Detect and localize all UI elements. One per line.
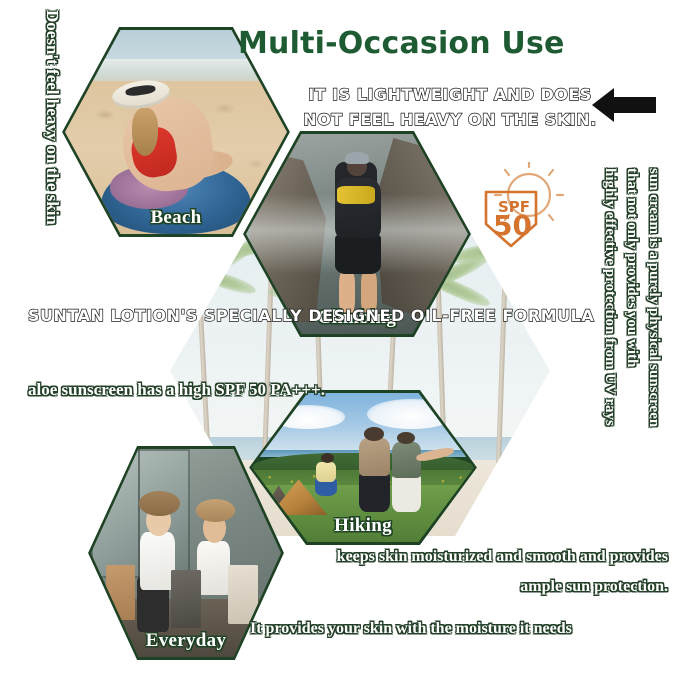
left-vertical-claim: Doesn't feel heavy on the skin <box>42 10 62 270</box>
moisturize-claim: keeps skin moisturized and smooth and pr… <box>296 542 668 602</box>
right-vertical-claim-line-2: that not only provides you with <box>623 168 640 367</box>
everyday-person1-hat <box>139 491 181 516</box>
right-vertical-claim-line-3: highly effective protection from UV rays <box>601 168 618 426</box>
hiking-adult1-legs <box>359 473 390 512</box>
infographic-canvas: Beach Climbing <box>0 0 679 679</box>
sun-shield-icon: SPF 50 <box>474 162 566 257</box>
tagline-top: IT IS LIGHTWEIGHT AND DOES NOT FEEL HEAV… <box>300 82 600 132</box>
shopping-bag <box>171 570 201 628</box>
climb-shorts <box>335 234 382 274</box>
right-vertical-claim-line-1: sun cream is a purely physical sunscreen <box>645 168 662 427</box>
left-arrow-icon <box>592 86 658 124</box>
moisture-claim: It provides your skin with the moisture … <box>250 616 670 642</box>
shopping-bag <box>106 565 135 619</box>
formula-claim: SUNTAN LOTION'S SPECIALLY DESIGNED OIL-F… <box>28 300 594 331</box>
climb-beanie <box>345 152 369 164</box>
page-title: Multi-Occasion Use <box>238 26 565 61</box>
climb-jacket-accent <box>337 186 375 204</box>
hiking-child-top <box>316 462 336 483</box>
hiking-adult2-legs <box>392 475 421 512</box>
hiking-adult1-head <box>364 427 384 440</box>
palm-frond <box>154 266 207 287</box>
everyday-person2-top <box>197 541 229 595</box>
everyday-person1-top <box>140 532 174 590</box>
hiking-adult1-vest <box>359 438 390 477</box>
hiking-child-head <box>321 453 334 463</box>
hiking-adult2-head <box>397 432 415 444</box>
everyday-person2-hat <box>196 499 236 522</box>
spf-claim: aloe sunscreen has a high SPF 50 PA+++. <box>28 375 325 404</box>
spf-value: 50 <box>493 209 532 242</box>
